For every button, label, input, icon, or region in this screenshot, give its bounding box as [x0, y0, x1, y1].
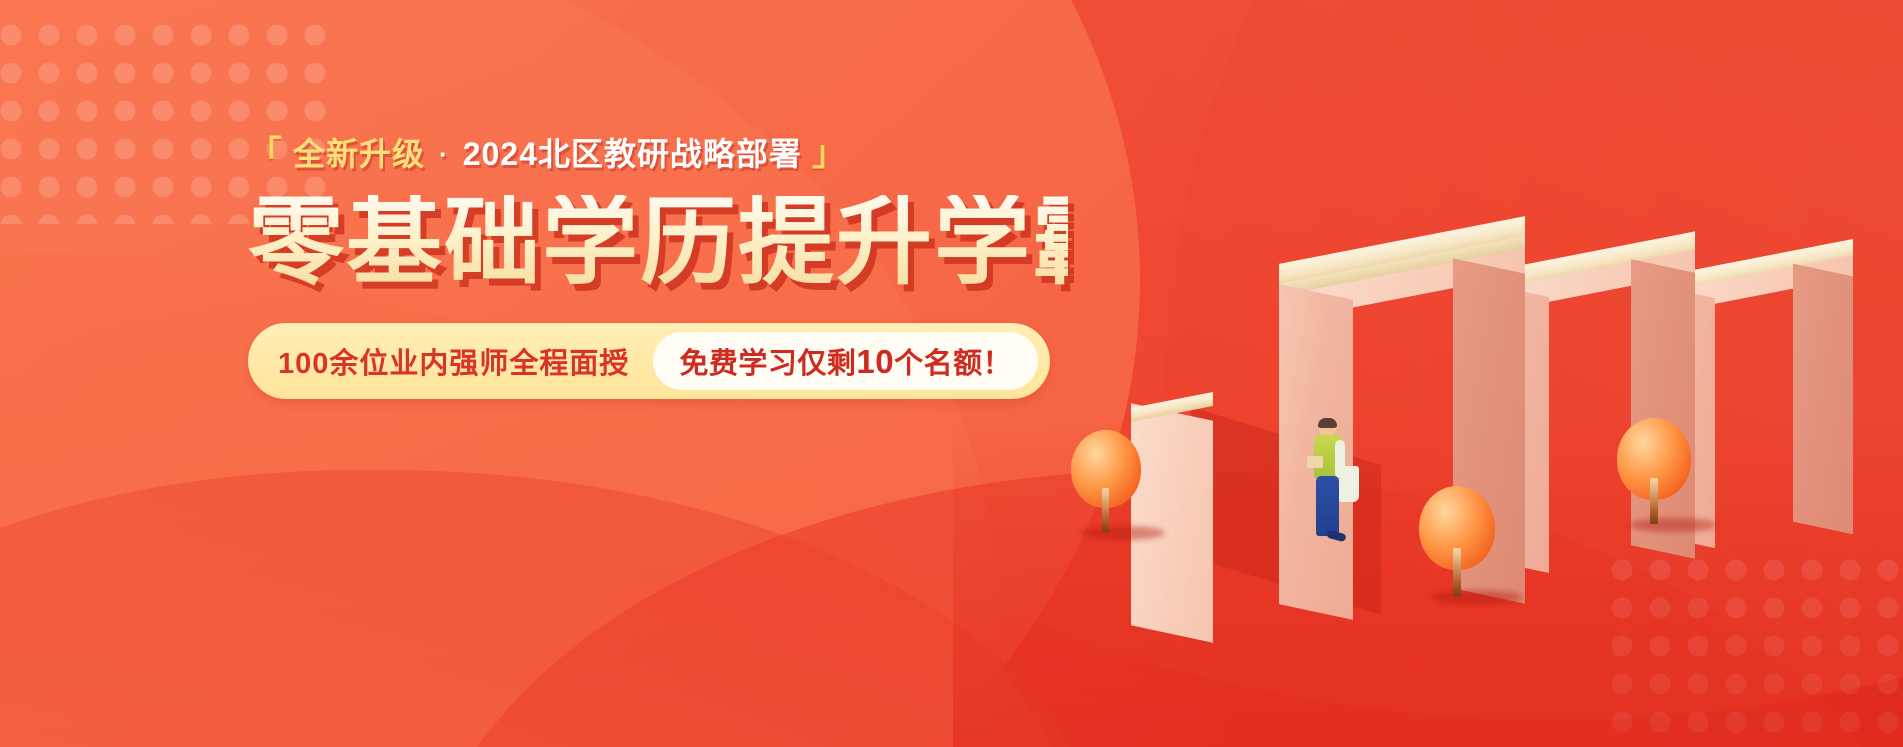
page-title: 零基础学历提升学霸班 [248, 195, 1068, 291]
eyebrow-gold-text: 全新升级 [293, 137, 425, 172]
pill-left-label: 100余位业内强师全程面授 [278, 340, 653, 382]
pill-right-number: 10 [856, 343, 894, 380]
pill-right-suffix: 个名额！ [894, 348, 1012, 380]
eyebrow-separator: · [435, 140, 453, 169]
promo-banner: 「 全新升级 · 2024北区教研战略部署 」 零基础学历提升学霸班 100余位… [0, 0, 1903, 747]
promo-pill: 100余位业内强师全程面授 免费学习仅剩10个名额！ [248, 323, 1050, 399]
banner-eyebrow: 「 全新升级 · 2024北区教研战略部署 」 [248, 136, 1068, 173]
pill-right-badge: 免费学习仅剩10个名额！ [653, 332, 1038, 390]
bracket-open: 「 [248, 136, 283, 173]
bracket-close: 」 [812, 136, 847, 173]
eyebrow-white-text: 2024北区教研战略部署 [463, 137, 802, 172]
banner-content: 「 全新升级 · 2024北区教研战略部署 」 零基础学历提升学霸班 100余位… [248, 136, 1068, 399]
pill-right-prefix: 免费学习仅剩 [679, 348, 856, 380]
